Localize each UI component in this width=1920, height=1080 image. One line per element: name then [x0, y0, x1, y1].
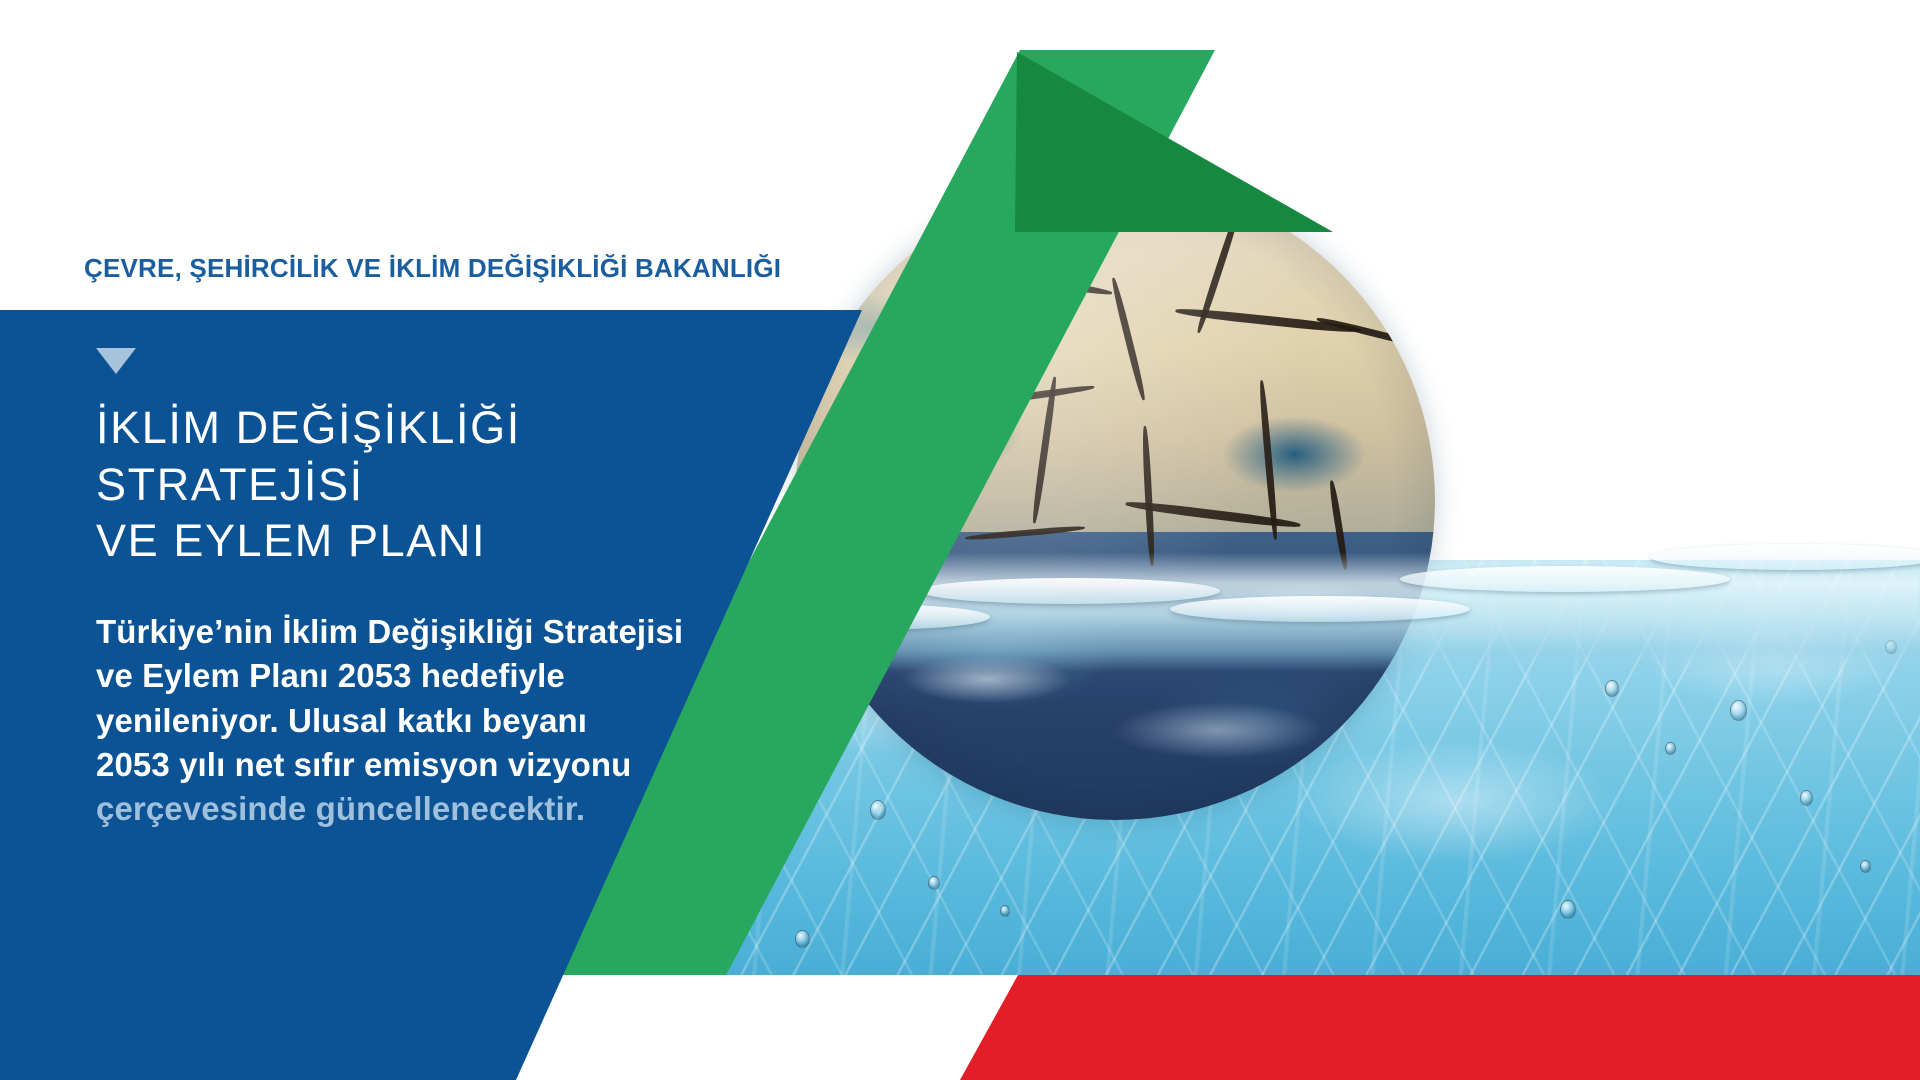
bubble-icon — [1665, 742, 1676, 755]
bubble-icon — [730, 760, 748, 782]
earth-globe — [795, 180, 1435, 820]
bubble-icon — [1560, 900, 1576, 919]
wave-crest — [920, 578, 1220, 604]
body-paragraph: Türkiye’nin İklim Değişikliği Stratejisi… — [96, 610, 796, 831]
bubble-icon — [1605, 680, 1619, 697]
content-panel-inner: İKLİM DEĞİŞİKLİĞİ STRATEJİSİ VE EYLEM PL… — [96, 348, 796, 831]
wave-crest — [1170, 596, 1470, 622]
bubble-icon — [1730, 700, 1747, 721]
triangle-down-icon — [96, 348, 136, 374]
globe-dry-hemisphere — [795, 180, 1435, 551]
bubble-icon — [1000, 905, 1010, 917]
bubble-icon — [760, 840, 771, 853]
wave-crest — [740, 604, 990, 630]
ministry-title: ÇEVRE, ŞEHİRCİLİK VE İKLİM DEĞİŞİKLİĞİ B… — [84, 253, 781, 284]
bubble-icon — [1800, 790, 1813, 806]
body-paragraph-strong: Türkiye’nin İklim Değişikliği Stratejisi… — [96, 613, 683, 783]
bubble-icon — [928, 876, 940, 890]
artwork-photo — [700, 0, 1920, 975]
bubble-icon — [1860, 860, 1871, 873]
bubble-icon — [795, 930, 810, 948]
slide-canvas: İKLİM DEĞİŞİKLİĞİ STRATEJİSİ VE EYLEM PL… — [0, 0, 1920, 1080]
page-title: İKLİM DEĞİŞİKLİĞİ STRATEJİSİ VE EYLEM PL… — [96, 400, 796, 570]
wave-crest — [1400, 566, 1730, 592]
wave-crest — [1650, 544, 1920, 570]
body-paragraph-dim: çerçevesinde güncellenecektir. — [96, 790, 585, 827]
